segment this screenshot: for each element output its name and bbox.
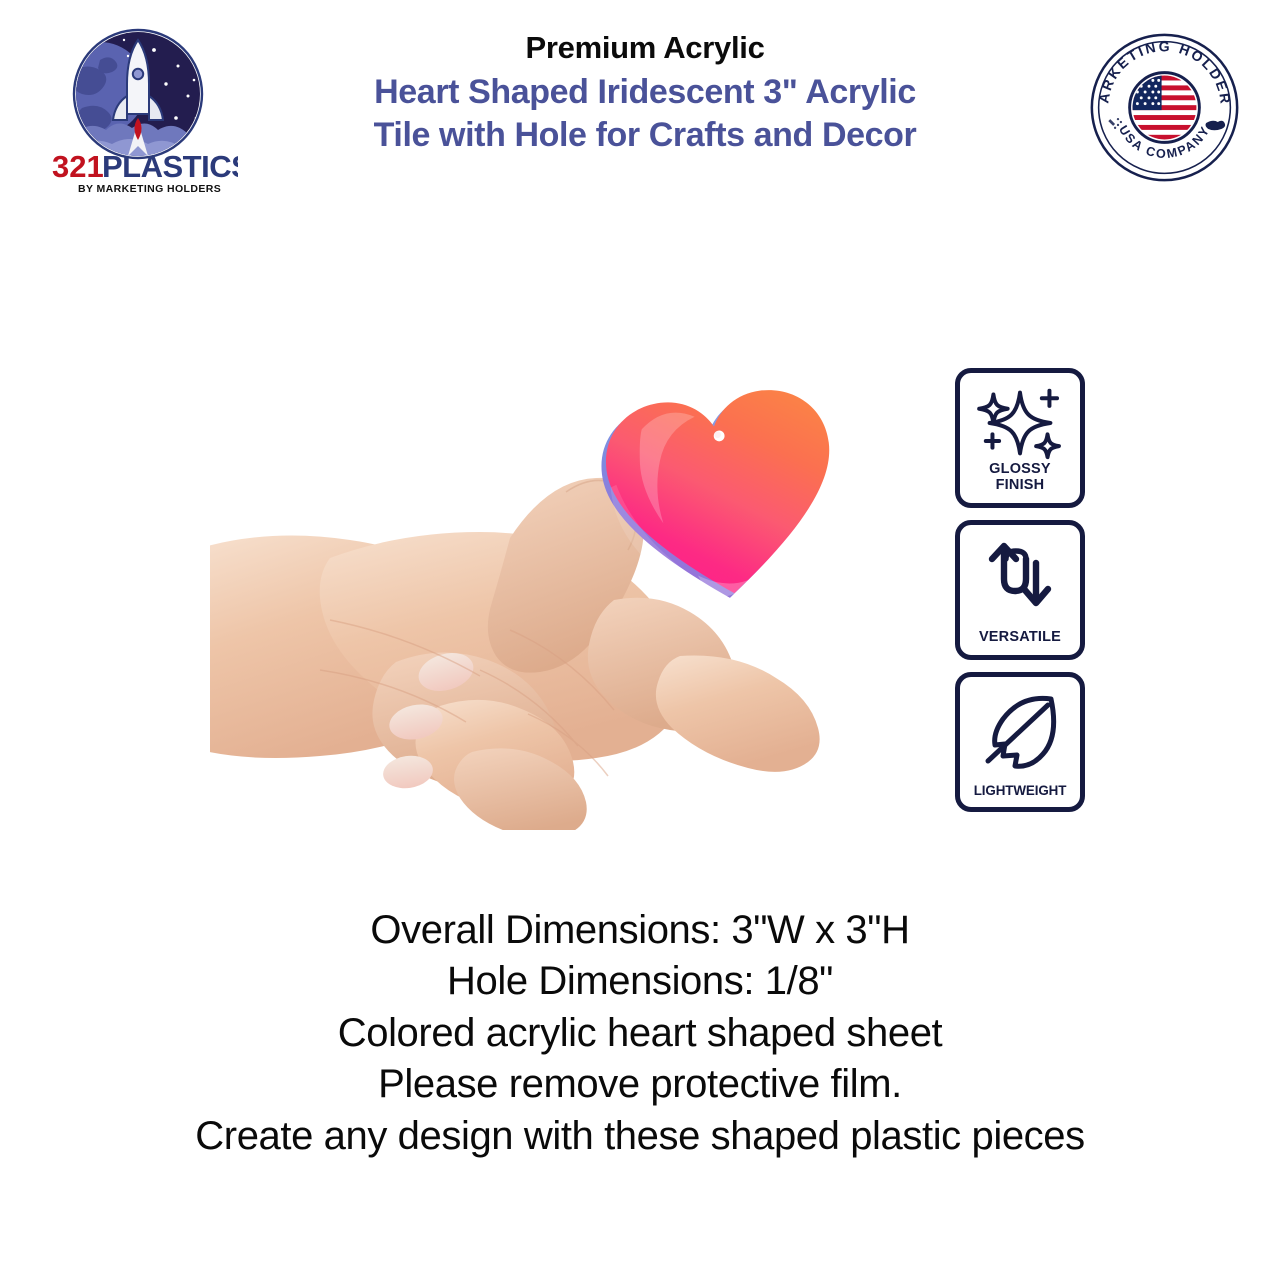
marketing-holders-usa-seal: MARKETING HOLDERS USA COMPANY — [1087, 30, 1242, 185]
feature-badge-lightweight: LIGHTWEIGHT — [955, 672, 1085, 812]
page-header: 321 PLASTICS BY MARKETING HOLDERS Premiu… — [0, 0, 1280, 205]
product-stage: GLOSSY FINISH VERSATILE — [0, 205, 1280, 895]
title-block: Premium Acrylic Heart Shaped Iridescent … — [250, 30, 1040, 157]
title-eyebrow: Premium Acrylic — [250, 30, 1040, 67]
logo-tagline: BY MARKETING HOLDERS — [78, 183, 221, 195]
product-listing-page: 321 PLASTICS BY MARKETING HOLDERS Premiu… — [0, 0, 1280, 1280]
feature-badge-glossy-finish: GLOSSY FINISH — [955, 368, 1085, 508]
title-line-1: Heart Shaped Iridescent 3" Acrylic — [250, 71, 1040, 114]
sparkle-icon — [974, 385, 1066, 461]
spec-line-protective-film: Please remove protective film. — [0, 1059, 1280, 1110]
spec-text-block: Overall Dimensions: 3"W x 3"H Hole Dimen… — [0, 905, 1280, 1162]
spec-line-material: Colored acrylic heart shaped sheet — [0, 1008, 1280, 1059]
spec-line-usage: Create any design with these shaped plas… — [0, 1111, 1280, 1162]
logo-number: 321 — [52, 149, 104, 184]
title-line-2: Tile with Hole for Crafts and Decor — [250, 114, 1040, 157]
321plastics-logo: 321 PLASTICS BY MARKETING HOLDERS — [38, 22, 238, 197]
hand-holding-heart-image — [210, 370, 910, 830]
feature-badge-versatile: VERSATILE — [955, 520, 1085, 660]
spec-line-hole-dimensions: Hole Dimensions: 1/8" — [0, 956, 1280, 1007]
page-title: Heart Shaped Iridescent 3" Acrylic Tile … — [250, 71, 1040, 157]
feature-label-glossy-finish: GLOSSY FINISH — [989, 461, 1051, 494]
spec-line-overall-dimensions: Overall Dimensions: 3"W x 3"H — [0, 905, 1280, 956]
heart-acrylic-tile — [599, 383, 845, 607]
feature-badge-list: GLOSSY FINISH VERSATILE — [955, 368, 1085, 812]
two-way-arrows-icon — [974, 537, 1066, 617]
feature-label-versatile: VERSATILE — [979, 629, 1061, 646]
logo-word: PLASTICS — [102, 149, 238, 184]
feather-icon — [974, 689, 1066, 769]
feature-label-lightweight: LIGHTWEIGHT — [974, 783, 1067, 798]
